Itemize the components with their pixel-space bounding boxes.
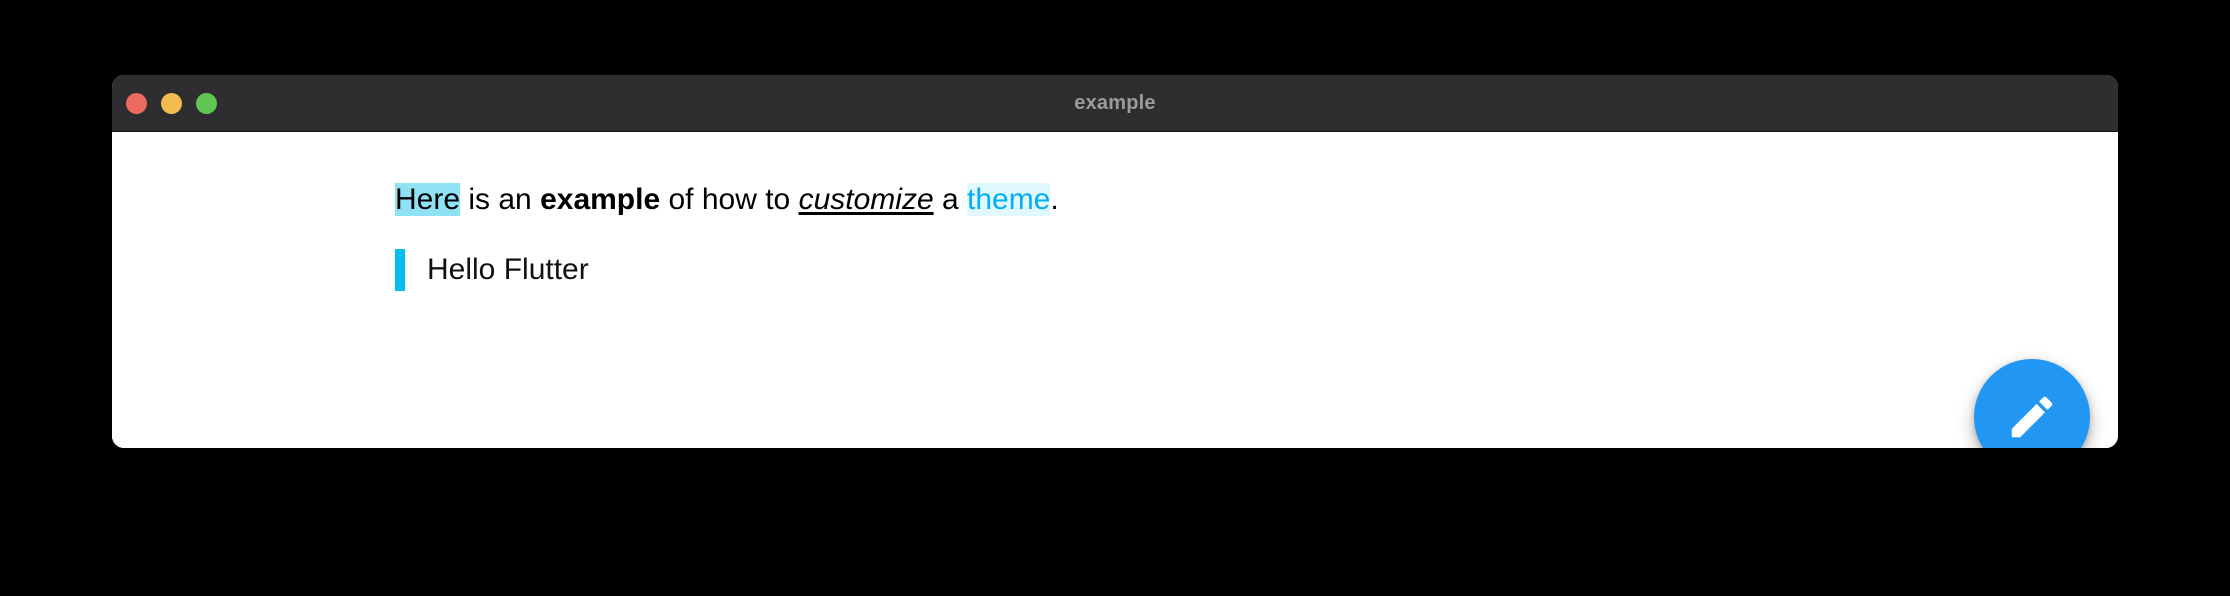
app-window: example Here is an example of how to cus… — [112, 75, 2118, 448]
edit-floating-action-button[interactable] — [1974, 359, 2090, 448]
text-token-highlight: Here — [395, 183, 460, 216]
text-token-plain: a — [934, 183, 967, 216]
text-token-link-theme[interactable]: theme — [967, 183, 1050, 216]
window-content: Here is an example of how to customize a… — [112, 132, 2118, 448]
blockquote: Hello Flutter — [395, 249, 589, 291]
blockquote-accent-bar — [395, 249, 405, 291]
traffic-light-controls — [126, 75, 217, 131]
window-title: example — [112, 92, 2118, 115]
window-titlebar[interactable]: example — [112, 75, 2118, 132]
styled-paragraph: Here is an example of how to customize a… — [395, 185, 1895, 215]
text-token-plain: of how to — [660, 183, 798, 216]
close-window-button[interactable] — [126, 93, 147, 114]
blockquote-text: Hello Flutter — [427, 253, 589, 287]
text-token-period: . — [1050, 183, 1058, 216]
text-token-plain: is an — [460, 183, 540, 216]
pencil-edit-icon — [2005, 390, 2059, 444]
text-token-italic-underline: customize — [799, 183, 934, 216]
minimize-window-button[interactable] — [161, 93, 182, 114]
markdown-body: Here is an example of how to customize a… — [395, 185, 1895, 215]
text-token-bold: example — [540, 183, 660, 216]
zoom-window-button[interactable] — [196, 93, 217, 114]
